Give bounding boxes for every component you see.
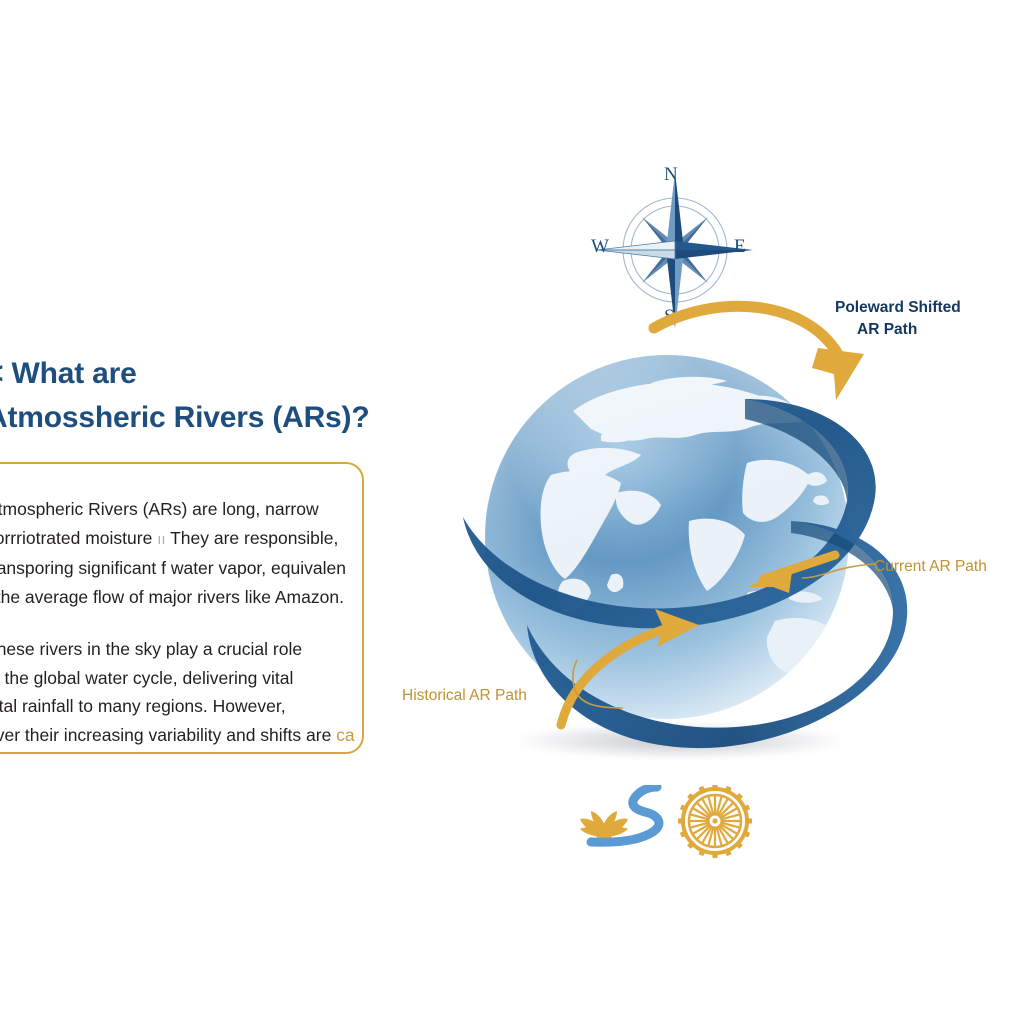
desc-p1-line-1: Atmospheric Rivers (ARs) are long, narro… bbox=[0, 499, 319, 519]
description-paragraph-1: Atmospheric Rivers (ARs) are long, narro… bbox=[0, 495, 406, 611]
desc-p1-line-4: transporing significant f water vapor, e… bbox=[0, 558, 346, 578]
desc-p2-overflow: ca bbox=[336, 725, 354, 745]
label-historical-ar-path: Historical AR Path bbox=[402, 687, 527, 705]
ashoka-chakra-icon bbox=[678, 785, 752, 858]
desc-p1-line-2: corrriotrated moisture bbox=[0, 528, 152, 548]
page-title: < What are Atmossheric Rivers (ARs)? bbox=[0, 352, 456, 440]
compass-label-west: W bbox=[591, 236, 609, 258]
title-text-line-1: What are bbox=[11, 357, 136, 390]
desc-p1-line-3: They are responsible, bbox=[170, 528, 338, 548]
compass-label-east: E bbox=[734, 236, 746, 258]
chevron-left-icon: < bbox=[0, 357, 3, 390]
label-poleward-shifted-ar-path: Poleward Shifted AR Path bbox=[835, 297, 1015, 341]
desc-p2-line-1: These rivers in the sky play a crucial r… bbox=[0, 639, 302, 659]
poleward-label-line-2: AR Path bbox=[835, 319, 1015, 341]
historical-label-leader-line bbox=[545, 658, 625, 714]
poleward-label-line-1: Poleward Shifted bbox=[835, 297, 1015, 319]
label-current-ar-path: Current AR Path bbox=[874, 558, 987, 576]
title-text-line-2: Atmossheric Rivers (ARs)? bbox=[0, 396, 456, 440]
description-paragraph-2: These rivers in the sky play a crucial r… bbox=[0, 635, 406, 749]
bottom-motif bbox=[575, 785, 765, 860]
lotus-icon bbox=[580, 811, 628, 840]
desc-p1-line-5: othe average flow of major rivers like A… bbox=[0, 587, 344, 607]
motif-icons bbox=[575, 785, 765, 860]
infographic-canvas: < What are Atmossheric Rivers (ARs)? Atm… bbox=[0, 0, 1024, 1024]
compass-label-north: N bbox=[664, 164, 678, 186]
desc-p2-line-3: vital rainfall to many regions. However, bbox=[0, 696, 286, 716]
desc-p2-line-2: in the global water cycle, delivering vi… bbox=[0, 668, 293, 688]
current-label-leader-line bbox=[800, 552, 880, 582]
description-text: Atmospheric Rivers (ARs) are long, narro… bbox=[0, 495, 406, 749]
text-glyph-artifact: ıı bbox=[157, 531, 165, 548]
desc-p2-line-4: ever their increasing variability and sh… bbox=[0, 725, 336, 745]
title-line-1: < What are bbox=[0, 352, 456, 396]
